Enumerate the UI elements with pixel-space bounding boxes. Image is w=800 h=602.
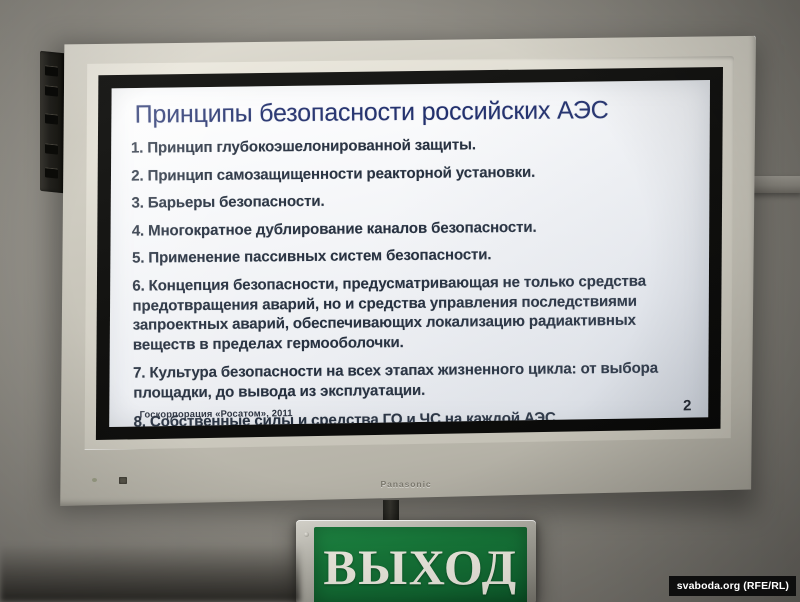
exit-sign-screw	[304, 532, 309, 537]
television: Принципы безопасности российских АЭС 1. …	[56, 34, 756, 506]
slide-page-number: 2	[683, 397, 692, 414]
watermark: svaboda.org (RFE/RL)	[669, 576, 796, 596]
remote-sensor-icon	[119, 477, 127, 484]
television-screen: Принципы безопасности российских АЭС 1. …	[108, 80, 710, 427]
television-brand-logo: Panasonic	[56, 479, 756, 489]
slide-item-1: 1. Принцип глубокоэшелонированной защиты…	[131, 133, 689, 158]
exit-sign: ВЫХОД	[296, 520, 536, 602]
slide-item-2: 2. Принцип самозащищенности реакторной у…	[131, 161, 689, 186]
slide-item-4: 4. Многократное дублирование каналов без…	[132, 216, 690, 241]
slide-item-3: 3. Барьеры безопасности.	[131, 189, 689, 214]
slide-item-6: 6. Концепция безопасности, предусматрива…	[132, 271, 691, 355]
floor-shadow	[0, 544, 300, 602]
power-led-icon	[92, 478, 97, 482]
slide-item-7: 7. Культура безопасности на всех этапах …	[133, 359, 691, 404]
exit-sign-label: ВЫХОД	[323, 542, 517, 592]
presentation-slide: Принципы безопасности российских АЭС 1. …	[108, 80, 710, 427]
slide-source-attribution: Госкорпорация «Росатом», 2011	[139, 407, 292, 419]
slide-item-5: 5. Применение пассивных систем безопасно…	[132, 244, 690, 269]
slide-bullet-list: 1. Принцип глубокоэшелонированной защиты…	[129, 133, 692, 427]
photo-scene: Принципы безопасности российских АЭС 1. …	[0, 0, 800, 602]
slide-title: Принципы безопасности российских АЭС	[135, 95, 689, 129]
exit-sign-face: ВЫХОД	[314, 527, 527, 602]
